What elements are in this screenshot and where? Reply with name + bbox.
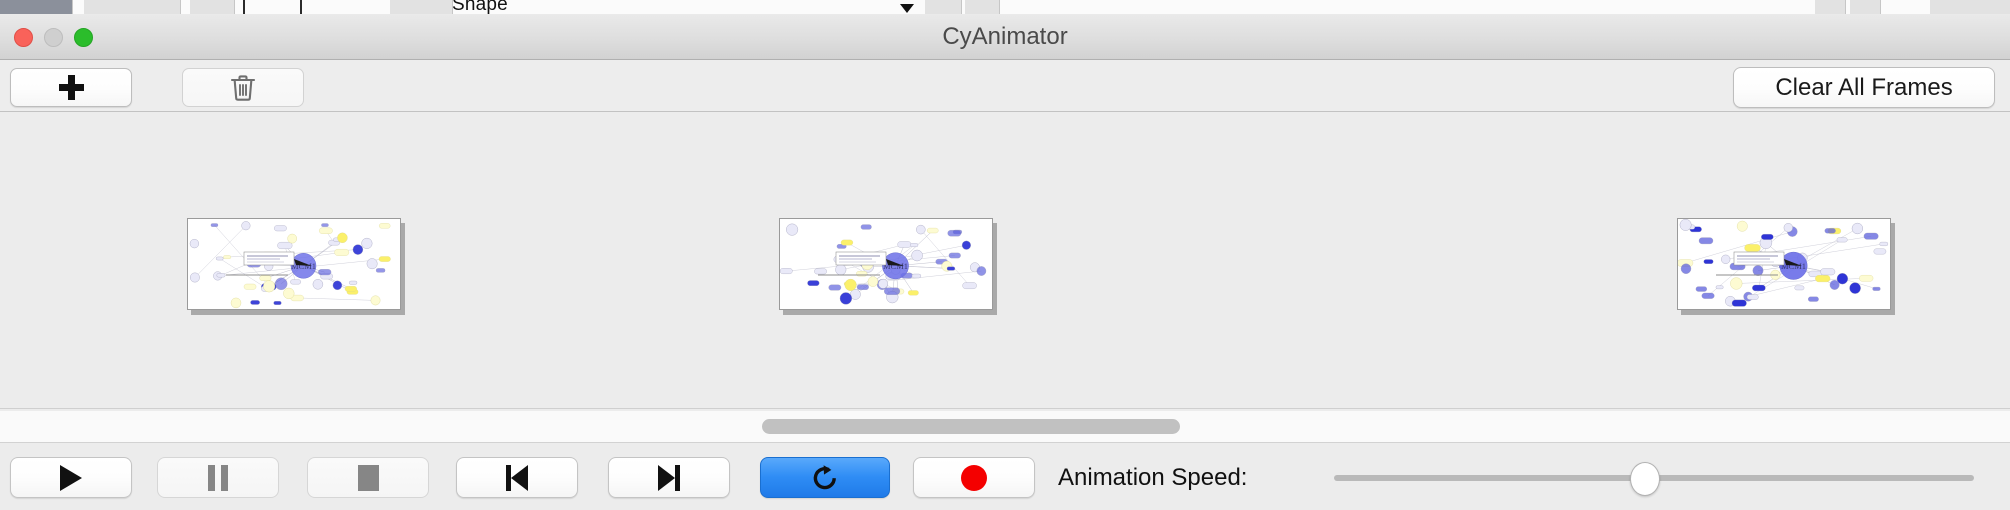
bg-chip — [965, 0, 1000, 14]
bg-chip — [390, 0, 453, 14]
clear-all-frames-label: Clear All Frames — [1775, 74, 1952, 102]
skip-to-end-icon — [658, 465, 680, 491]
frame-thumbnail[interactable]: MCM1 — [779, 218, 993, 310]
frames-layer: MCM1MCM1MCM1 — [0, 112, 2010, 312]
bg-chip — [1815, 0, 1846, 14]
transport-bar: Animation Speed: — [0, 444, 2010, 510]
frame-thumbnail[interactable]: MCM1 — [187, 218, 401, 310]
cyanimator-window: Shape CyAnimator Clear A — [0, 0, 2010, 510]
add-frame-button[interactable] — [10, 68, 132, 107]
window-titlebar: CyAnimator — [0, 14, 2010, 60]
pause-button[interactable] — [157, 457, 279, 498]
frame-toolbar: Clear All Frames — [0, 60, 2010, 112]
animation-speed-slider[interactable] — [1334, 457, 1974, 498]
stop-icon — [358, 465, 379, 491]
svg-text:MCM1: MCM1 — [1781, 261, 1806, 271]
plus-icon — [59, 75, 84, 100]
skip-to-start-icon — [506, 465, 528, 491]
timeline-frame[interactable]: MCM1 — [1677, 218, 1895, 315]
record-icon — [961, 465, 987, 491]
timeline-scrollbar-thumb[interactable] — [762, 419, 1180, 434]
play-icon — [60, 465, 82, 491]
svg-text:MCM1: MCM1 — [883, 261, 908, 271]
bg-chip — [1930, 0, 2010, 14]
timeline-frame[interactable]: MCM1 — [187, 218, 405, 315]
timeline-panel[interactable]: MCM1MCM1MCM1 Seconds 2131415161718 — [0, 112, 2010, 409]
timeline-scrollbar[interactable] — [0, 411, 2010, 443]
bg-cursor-arrow-icon — [900, 4, 914, 13]
window-title: CyAnimator — [0, 14, 2010, 60]
bg-chip — [190, 0, 235, 14]
loop-icon — [810, 463, 840, 493]
clear-all-frames-button[interactable]: Clear All Frames — [1733, 67, 1995, 108]
background-window-strip: Shape — [0, 0, 2010, 15]
stop-button[interactable] — [307, 457, 429, 498]
trash-icon — [230, 74, 256, 102]
bg-chip — [925, 0, 962, 14]
bg-chip — [1850, 0, 1881, 14]
timeline-frame[interactable]: MCM1 — [779, 218, 997, 315]
skip-to-start-button[interactable] — [456, 457, 578, 498]
loop-button[interactable] — [760, 457, 890, 498]
bg-tick — [243, 0, 245, 14]
play-button[interactable] — [10, 457, 132, 498]
delete-frame-button[interactable] — [182, 68, 304, 107]
bg-tick — [300, 0, 302, 14]
slider-thumb[interactable] — [1630, 462, 1660, 496]
bg-window-shape-label: Shape — [452, 0, 508, 15]
animation-speed-label: Animation Speed: — [1058, 457, 1247, 498]
skip-to-end-button[interactable] — [608, 457, 730, 498]
bg-chip — [84, 0, 181, 14]
record-button[interactable] — [913, 457, 1035, 498]
bg-chip — [0, 0, 73, 14]
svg-text:MCM1: MCM1 — [291, 261, 316, 271]
frame-thumbnail[interactable]: MCM1 — [1677, 218, 1891, 310]
pause-icon — [208, 465, 228, 491]
